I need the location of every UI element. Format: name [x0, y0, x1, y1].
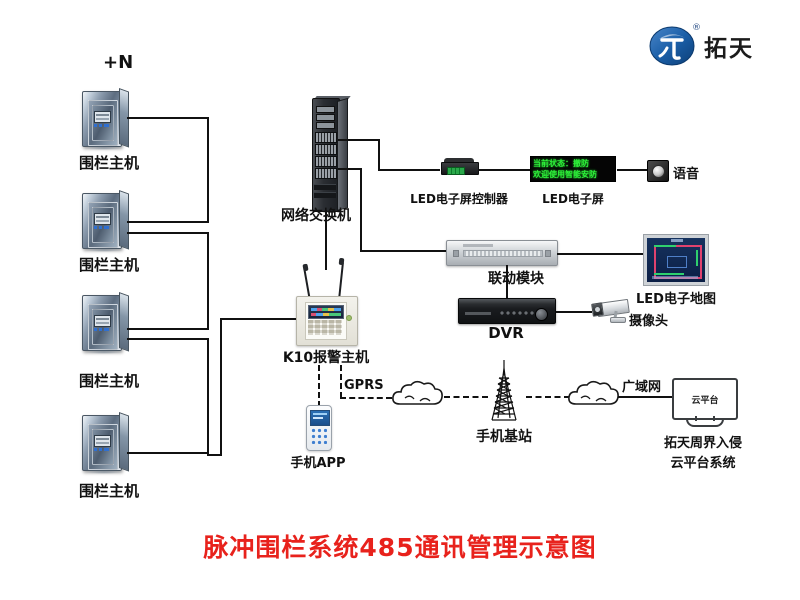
wire-k10-to-phone: [318, 365, 320, 407]
wire-bus-low: [207, 338, 209, 454]
dvr-label: DVR: [488, 324, 524, 342]
wire-dvr-to-camera: [556, 311, 592, 313]
wire-linkage-to-dvr: [506, 265, 508, 299]
led-map-icon: [643, 234, 709, 286]
wire-switch-out1: [338, 139, 380, 141]
voice-label: 语音: [673, 163, 699, 182]
registered-mark: ®: [692, 23, 701, 33]
wire-fence1-v: [207, 117, 209, 223]
wire-k10-gprs-v: [340, 365, 342, 398]
wire-tower-to-cloud: [526, 396, 570, 398]
cloud-icon: [390, 378, 446, 416]
alarm-host-icon: [296, 252, 358, 344]
smartphone-icon: [306, 405, 332, 451]
cell-tower-icon: [478, 358, 530, 426]
led-screen-line1: 当前状态：撤防: [533, 158, 613, 169]
phone-app-label: 手机APP: [290, 452, 345, 471]
wire-fence2b: [127, 232, 209, 234]
fence-host-icon: [82, 88, 128, 148]
brand-name: 拓天: [704, 29, 754, 63]
gprs-label: GPRS: [344, 378, 384, 393]
wire-fence3: [127, 328, 209, 330]
wire-bus-mid: [207, 232, 209, 330]
led-controller-icon: [441, 158, 477, 176]
led-controller-label: LED电子屏控制器: [410, 190, 508, 207]
fence-host-icon: [82, 292, 128, 352]
wire-trunk-to-k10: [220, 318, 306, 320]
brand-mark-icon: ®: [648, 24, 698, 68]
plus-n-annotation: +N: [103, 52, 133, 73]
diagram-canvas: ® 拓天 +N 围栏主机 围栏主机 围栏主机 围栏主机: [0, 0, 800, 600]
wire-k10-gprs-h: [340, 397, 392, 399]
cloud-platform-screen-label: 云平台: [674, 380, 736, 418]
led-screen-label: LED电子屏: [542, 190, 604, 207]
fence-host-4-label: 围栏主机: [79, 480, 139, 501]
wire-fence2: [127, 221, 209, 223]
camera-label: 摄像头: [629, 310, 668, 329]
wire-bus-bottom-join: [207, 454, 222, 456]
base-station-label: 手机基站: [476, 426, 532, 446]
wire-trunk-v: [220, 318, 222, 454]
network-switch-icon: [306, 98, 350, 210]
fence-host-2-label: 围栏主机: [79, 254, 139, 275]
cloud-platform-label-line2: 云平台系统: [670, 452, 735, 471]
fence-host-3-label: 围栏主机: [79, 370, 139, 391]
fence-host-1-label: 围栏主机: [79, 152, 139, 173]
fence-host-icon: [82, 412, 128, 472]
led-map-label: LED电子地图: [636, 288, 716, 307]
wire-screen-to-voice: [617, 169, 647, 171]
brand-logo: ® 拓天: [648, 24, 754, 68]
wire-switch-out2: [338, 168, 362, 170]
linkage-module-icon: [446, 240, 558, 266]
wire-linkage-to-map: [557, 253, 643, 255]
dvr-icon: [458, 298, 556, 324]
wire-switch-out1-v: [378, 139, 380, 171]
wire-fence4: [127, 452, 209, 454]
monitor-icon: 云平台: [672, 378, 734, 426]
diagram-title: 脉冲围栏系统485通讯管理示意图: [203, 528, 596, 564]
wire-switch-out2-v: [360, 168, 362, 252]
k10-label: K10报警主机: [283, 347, 369, 367]
speaker-icon: [647, 160, 669, 182]
switch-label: 网络交换机: [281, 205, 351, 225]
wire-fence3b: [127, 338, 209, 340]
wire-to-linkage: [360, 250, 446, 252]
led-display-icon: 当前状态：撤防 欢迎使用智能安防: [530, 156, 616, 182]
fence-host-icon: [82, 190, 128, 250]
wire-wan: [618, 396, 674, 398]
wan-label: 广域网: [622, 376, 661, 395]
linkage-label: 联动模块: [488, 268, 544, 288]
camera-icon: [588, 298, 632, 324]
wire-to-led-controller: [378, 169, 440, 171]
wire-controller-to-screen: [478, 169, 530, 171]
cloud-icon: [566, 378, 622, 416]
led-screen-line2: 欢迎使用智能安防: [533, 169, 613, 180]
cloud-platform-label-line1: 拓天周界入侵: [664, 432, 742, 451]
wire-fence1: [127, 117, 209, 119]
